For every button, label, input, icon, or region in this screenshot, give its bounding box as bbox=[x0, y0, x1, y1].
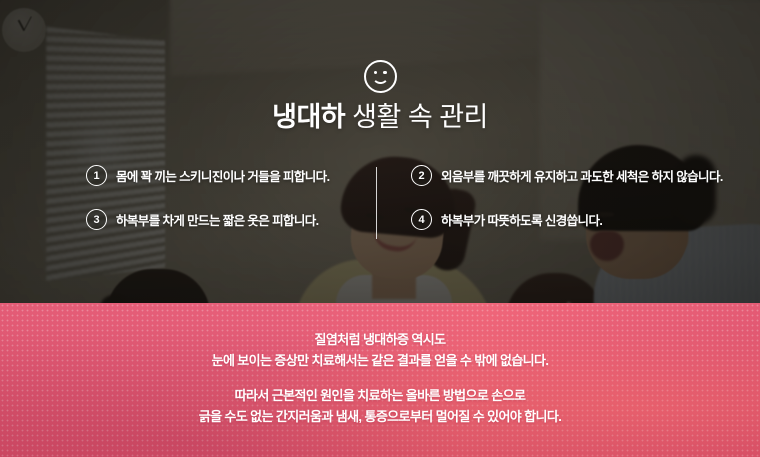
page-title-light: 생활 속 관리 bbox=[352, 102, 488, 132]
tip-item-4: 4 하복부가 따뜻하도록 신경씁니다. bbox=[411, 209, 602, 230]
tip-item-2: 2 외음부를 깨끗하게 유지하고 과도한 세척은 하지 않습니다. bbox=[411, 165, 723, 186]
pink-paragraph-1-line-1: 질염처럼 냉대하증 역시도 bbox=[0, 329, 760, 350]
smiley-mouth bbox=[372, 75, 389, 84]
pink-paragraph-1: 질염처럼 냉대하증 역시도 눈에 보이는 증상만 치료해서는 같은 결과를 얻을… bbox=[0, 329, 760, 371]
tip-text: 몸에 꽉 끼는 스키니진이나 거들을 피합니다. bbox=[116, 166, 329, 185]
tip-number-badge: 2 bbox=[411, 165, 432, 186]
pink-paragraph-2-line-1: 따라서 근본적인 원인을 치료하는 올바른 방법으로 손으로 bbox=[0, 385, 760, 406]
tip-text: 외음부를 깨끗하게 유지하고 과도한 세척은 하지 않습니다. bbox=[441, 166, 723, 185]
tip-item-1: 1 몸에 꽉 끼는 스키니진이나 거들을 피합니다. bbox=[86, 165, 329, 186]
pink-summary-panel: 질염처럼 냉대하증 역시도 눈에 보이는 증상만 치료해서는 같은 결과를 얻을… bbox=[0, 303, 760, 457]
pink-paragraph-2-line-2: 긁을 수도 없는 간지러움과 냄새, 통증으로부터 멀어질 수 있어야 합니다. bbox=[0, 406, 760, 427]
tip-text: 하복부를 차게 만드는 짧은 옷은 피합니다. bbox=[116, 210, 319, 229]
smiley-eye-right bbox=[383, 71, 386, 74]
smiley-face-icon bbox=[364, 60, 397, 93]
pink-paragraph-1-line-2: 눈에 보이는 증상만 치료해서는 같은 결과를 얻을 수 밖에 없습니다. bbox=[0, 350, 760, 371]
page-title: 냉대하 생활 속 관리 bbox=[0, 102, 760, 133]
page-title-strong: 냉대하 bbox=[272, 102, 345, 132]
tip-number-badge: 3 bbox=[86, 209, 107, 230]
pink-panel-content: 질염처럼 냉대하증 역시도 눈에 보이는 증상만 치료해서는 같은 결과를 얻을… bbox=[0, 303, 760, 427]
smiley-eye-left bbox=[374, 71, 377, 74]
tip-item-3: 3 하복부를 차게 만드는 짧은 옷은 피합니다. bbox=[86, 209, 319, 230]
tip-number-badge: 1 bbox=[86, 165, 107, 186]
tip-text: 하복부가 따뜻하도록 신경씁니다. bbox=[441, 210, 602, 229]
hero-section: 냉대하 생활 속 관리 1 몸에 꽉 끼는 스키니진이나 거들을 피합니다. 3… bbox=[0, 0, 760, 303]
promo-banner: 냉대하 생활 속 관리 1 몸에 꽉 끼는 스키니진이나 거들을 피합니다. 3… bbox=[0, 0, 760, 457]
tips-column-divider bbox=[376, 167, 377, 239]
tip-number-badge: 4 bbox=[411, 209, 432, 230]
pink-paragraph-2: 따라서 근본적인 원인을 치료하는 올바른 방법으로 손으로 긁을 수도 없는 … bbox=[0, 385, 760, 427]
tips-list: 1 몸에 꽉 끼는 스키니진이나 거들을 피합니다. 3 하복부를 차게 만드는… bbox=[0, 165, 760, 245]
